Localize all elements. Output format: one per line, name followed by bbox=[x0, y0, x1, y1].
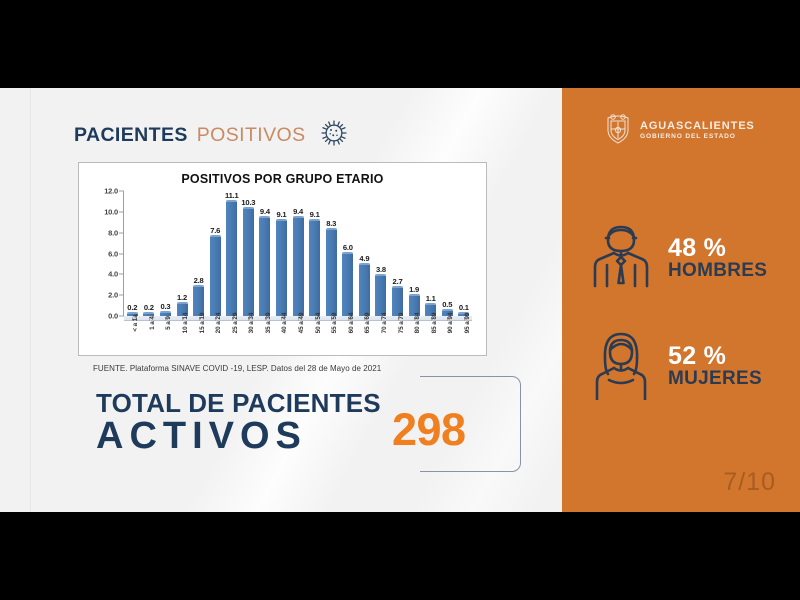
x-axis-cell: 65 a 69 bbox=[356, 321, 373, 357]
bar-value-label: 9.4 bbox=[293, 207, 303, 216]
x-axis-cell: 15 a 19 bbox=[190, 321, 207, 357]
government-name-block: AGUASCALIENTES GOBIERNO DEL ESTADO bbox=[640, 121, 755, 140]
x-axis-cell: 70 a 74 bbox=[373, 321, 390, 357]
x-axis-cell: 35 a 39 bbox=[257, 321, 274, 357]
bar bbox=[243, 208, 254, 316]
bar-value-label: 1.1 bbox=[426, 294, 436, 303]
stat-mujeres-text: 52 % MUJERES bbox=[668, 343, 762, 390]
x-axis-cell: 40 a 44 bbox=[273, 321, 290, 357]
y-tick-mark bbox=[119, 211, 124, 212]
bar-value-label: 4.9 bbox=[359, 254, 369, 263]
x-tick-label: 30 a 34 bbox=[248, 313, 255, 334]
chart-title: POSITIVOS POR GRUPO ETARIO bbox=[79, 172, 486, 186]
bar-value-label: 0.1 bbox=[459, 303, 469, 312]
chart-bars-area: 0.20.20.31.22.87.611.110.39.49.19.49.18.… bbox=[124, 191, 472, 316]
bar bbox=[326, 229, 337, 316]
x-axis-cell: 95 a 99 bbox=[456, 321, 473, 357]
slide-content: PACIENTES POSITIVOS bbox=[0, 88, 800, 512]
female-avatar-icon bbox=[590, 328, 652, 405]
header-title-light: POSITIVOS bbox=[197, 124, 306, 147]
chart-y-axis: 0.02.04.06.08.010.012.0 bbox=[87, 191, 123, 316]
bar-item: 0.5 bbox=[439, 191, 456, 316]
y-tick-label: 0.0 bbox=[108, 312, 118, 321]
bar-item: 0.1 bbox=[456, 191, 473, 316]
bar-item: 11.1 bbox=[223, 191, 240, 316]
bar bbox=[359, 264, 370, 316]
male-avatar-icon bbox=[590, 220, 652, 297]
x-axis-cell: 85 a 89 bbox=[422, 321, 439, 357]
x-tick-label: 85 a 89 bbox=[431, 313, 438, 334]
coat-of-arms-icon bbox=[604, 111, 632, 150]
bar-value-label: 6.0 bbox=[343, 243, 353, 252]
x-tick-label: 65 a 69 bbox=[364, 313, 371, 334]
government-name: AGUASCALIENTES bbox=[640, 121, 755, 133]
bar bbox=[342, 253, 353, 317]
bar bbox=[226, 201, 237, 316]
slide-header: PACIENTES POSITIVOS bbox=[74, 118, 349, 153]
government-subtitle: GOBIERNO DEL ESTADO bbox=[640, 133, 755, 140]
page-number: 7/10 bbox=[723, 468, 776, 497]
x-axis-cell: 5 a 9 bbox=[157, 321, 174, 357]
x-axis-cell: 20 a 24 bbox=[207, 321, 224, 357]
bar-value-label: 0.5 bbox=[442, 300, 452, 309]
bar-item: 7.6 bbox=[207, 191, 224, 316]
x-tick-label: 50 a 54 bbox=[315, 313, 322, 334]
bar-item: 9.4 bbox=[257, 191, 274, 316]
bar-value-label: 0.2 bbox=[144, 303, 154, 312]
x-axis-cell: 80 a 84 bbox=[406, 321, 423, 357]
bar-item: 6.0 bbox=[340, 191, 357, 316]
x-axis-cell: 50 a 54 bbox=[306, 321, 323, 357]
x-tick-label: 20 a 24 bbox=[215, 313, 222, 334]
y-tick-label: 4.0 bbox=[108, 270, 118, 279]
bar-item: 2.7 bbox=[389, 191, 406, 316]
bar-value-label: 1.9 bbox=[409, 285, 419, 294]
bar-value-label: 8.3 bbox=[326, 219, 336, 228]
bar bbox=[210, 236, 221, 316]
x-axis-cell: 1 a 4 bbox=[141, 321, 158, 357]
stat-mujeres-percent: 52 % bbox=[668, 343, 762, 369]
bar-item: 1.9 bbox=[406, 191, 423, 316]
y-tick-mark bbox=[119, 191, 124, 192]
y-tick-mark bbox=[119, 274, 124, 275]
bar-item: 8.3 bbox=[323, 191, 340, 316]
total-patients-block: TOTAL DE PACIENTES ACTIVOS bbox=[96, 390, 381, 457]
y-tick-label: 8.0 bbox=[108, 228, 118, 237]
x-tick-label: 40 a 44 bbox=[281, 313, 288, 334]
bar-value-label: 10.3 bbox=[241, 198, 255, 207]
bar-item: 0.2 bbox=[141, 191, 158, 316]
x-tick-label: 75 a 79 bbox=[398, 313, 405, 334]
x-axis-cell: 55 a 59 bbox=[323, 321, 340, 357]
letterbox-top bbox=[0, 0, 800, 88]
government-branding: AGUASCALIENTES GOBIERNO DEL ESTADO bbox=[604, 111, 755, 150]
stat-mujeres-label: MUJERES bbox=[668, 369, 762, 390]
x-tick-label: 1 a 4 bbox=[149, 316, 156, 330]
bar-series: 0.20.20.31.22.87.611.110.39.49.19.49.18.… bbox=[124, 191, 472, 316]
y-tick-mark bbox=[119, 316, 124, 317]
x-tick-label: 80 a 84 bbox=[414, 313, 421, 334]
bar-item: 0.2 bbox=[124, 191, 141, 316]
stat-hombres-label: HOMBRES bbox=[668, 261, 767, 282]
y-tick-label: 2.0 bbox=[108, 291, 118, 300]
bar-value-label: 11.1 bbox=[225, 191, 239, 200]
x-tick-label: 25 a 29 bbox=[232, 313, 239, 334]
bar-value-label: 9.1 bbox=[310, 210, 320, 219]
bar-item: 0.3 bbox=[157, 191, 174, 316]
x-axis-cell: 10 a 14 bbox=[174, 321, 191, 357]
x-tick-label: 90 a 94 bbox=[447, 313, 454, 334]
total-label-line2: ACTIVOS bbox=[96, 416, 381, 457]
bar-value-label: 9.1 bbox=[277, 210, 287, 219]
x-axis-cell: < a 1a bbox=[124, 321, 141, 357]
y-tick-label: 6.0 bbox=[108, 249, 118, 258]
bar-value-label: 3.8 bbox=[376, 265, 386, 274]
y-tick-mark bbox=[119, 232, 124, 233]
bar-item: 1.2 bbox=[174, 191, 191, 316]
chart-plot-area: 0.02.04.06.08.010.012.0 0.20.20.31.22.87… bbox=[79, 191, 488, 357]
bar-item: 1.1 bbox=[422, 191, 439, 316]
bar-item: 10.3 bbox=[240, 191, 257, 316]
x-axis-cell: 90 a 94 bbox=[439, 321, 456, 357]
bar bbox=[293, 217, 304, 316]
x-tick-label: 60 a 64 bbox=[348, 313, 355, 334]
x-tick-label: 15 a 19 bbox=[199, 313, 206, 334]
total-active-number: 298 bbox=[392, 404, 466, 456]
slide-stage: PACIENTES POSITIVOS bbox=[0, 0, 800, 600]
bar bbox=[259, 217, 270, 316]
bar-item: 9.1 bbox=[306, 191, 323, 316]
x-axis-cell: 30 a 34 bbox=[240, 321, 257, 357]
stat-mujeres: 52 % MUJERES bbox=[590, 328, 762, 405]
x-tick-label: 35 a 39 bbox=[265, 313, 272, 334]
bar bbox=[309, 220, 320, 316]
bar-item: 2.8 bbox=[190, 191, 207, 316]
chart-x-axis: < a 1a1 a 45 a 910 a 1415 a 1920 a 2425 … bbox=[124, 321, 472, 357]
bar bbox=[375, 275, 386, 316]
x-axis-cell: 60 a 64 bbox=[340, 321, 357, 357]
x-axis-cell: 25 a 29 bbox=[223, 321, 240, 357]
bar-value-label: 2.7 bbox=[393, 277, 403, 286]
bar-item: 9.1 bbox=[273, 191, 290, 316]
bar-value-label: 0.3 bbox=[160, 302, 170, 311]
bar-item: 4.9 bbox=[356, 191, 373, 316]
x-axis-cell: 45 a 49 bbox=[290, 321, 307, 357]
y-tick-label: 12.0 bbox=[104, 187, 118, 196]
bar-value-label: 7.6 bbox=[210, 226, 220, 235]
coronavirus-icon bbox=[319, 118, 349, 153]
x-tick-label: 45 a 49 bbox=[298, 313, 305, 334]
chart-source-note: FUENTE. Plataforma SINAVE COVID -19, LES… bbox=[93, 364, 381, 373]
header-title-bold: PACIENTES bbox=[74, 124, 188, 147]
y-tick-mark bbox=[119, 253, 124, 254]
y-tick-mark bbox=[119, 295, 124, 296]
x-tick-label: 55 a 59 bbox=[331, 313, 338, 334]
x-tick-label: 70 a 74 bbox=[381, 313, 388, 334]
side-panel: AGUASCALIENTES GOBIERNO DEL ESTADO bbox=[562, 88, 800, 512]
x-axis-cell: 75 a 79 bbox=[389, 321, 406, 357]
bar-value-label: 0.2 bbox=[127, 303, 137, 312]
y-tick-label: 10.0 bbox=[104, 207, 118, 216]
total-label-line1: TOTAL DE PACIENTES bbox=[96, 390, 381, 416]
bar-item: 3.8 bbox=[373, 191, 390, 316]
stat-hombres: 48 % HOMBRES bbox=[590, 220, 767, 297]
x-tick-label: < a 1a bbox=[132, 314, 139, 331]
bar-value-label: 2.8 bbox=[194, 276, 204, 285]
x-tick-label: 10 a 14 bbox=[182, 313, 189, 334]
stat-hombres-percent: 48 % bbox=[668, 235, 767, 261]
bar-item: 9.4 bbox=[290, 191, 307, 316]
x-tick-label: 95 a 99 bbox=[464, 313, 471, 334]
stat-hombres-text: 48 % HOMBRES bbox=[668, 235, 767, 282]
x-tick-label: 5 a 9 bbox=[165, 316, 172, 330]
chart-card: POSITIVOS POR GRUPO ETARIO 0.02.04.06.08… bbox=[78, 162, 487, 356]
bar-value-label: 9.4 bbox=[260, 207, 270, 216]
bar bbox=[276, 220, 287, 316]
letterbox-bottom bbox=[0, 512, 800, 600]
bar-value-label: 1.2 bbox=[177, 293, 187, 302]
